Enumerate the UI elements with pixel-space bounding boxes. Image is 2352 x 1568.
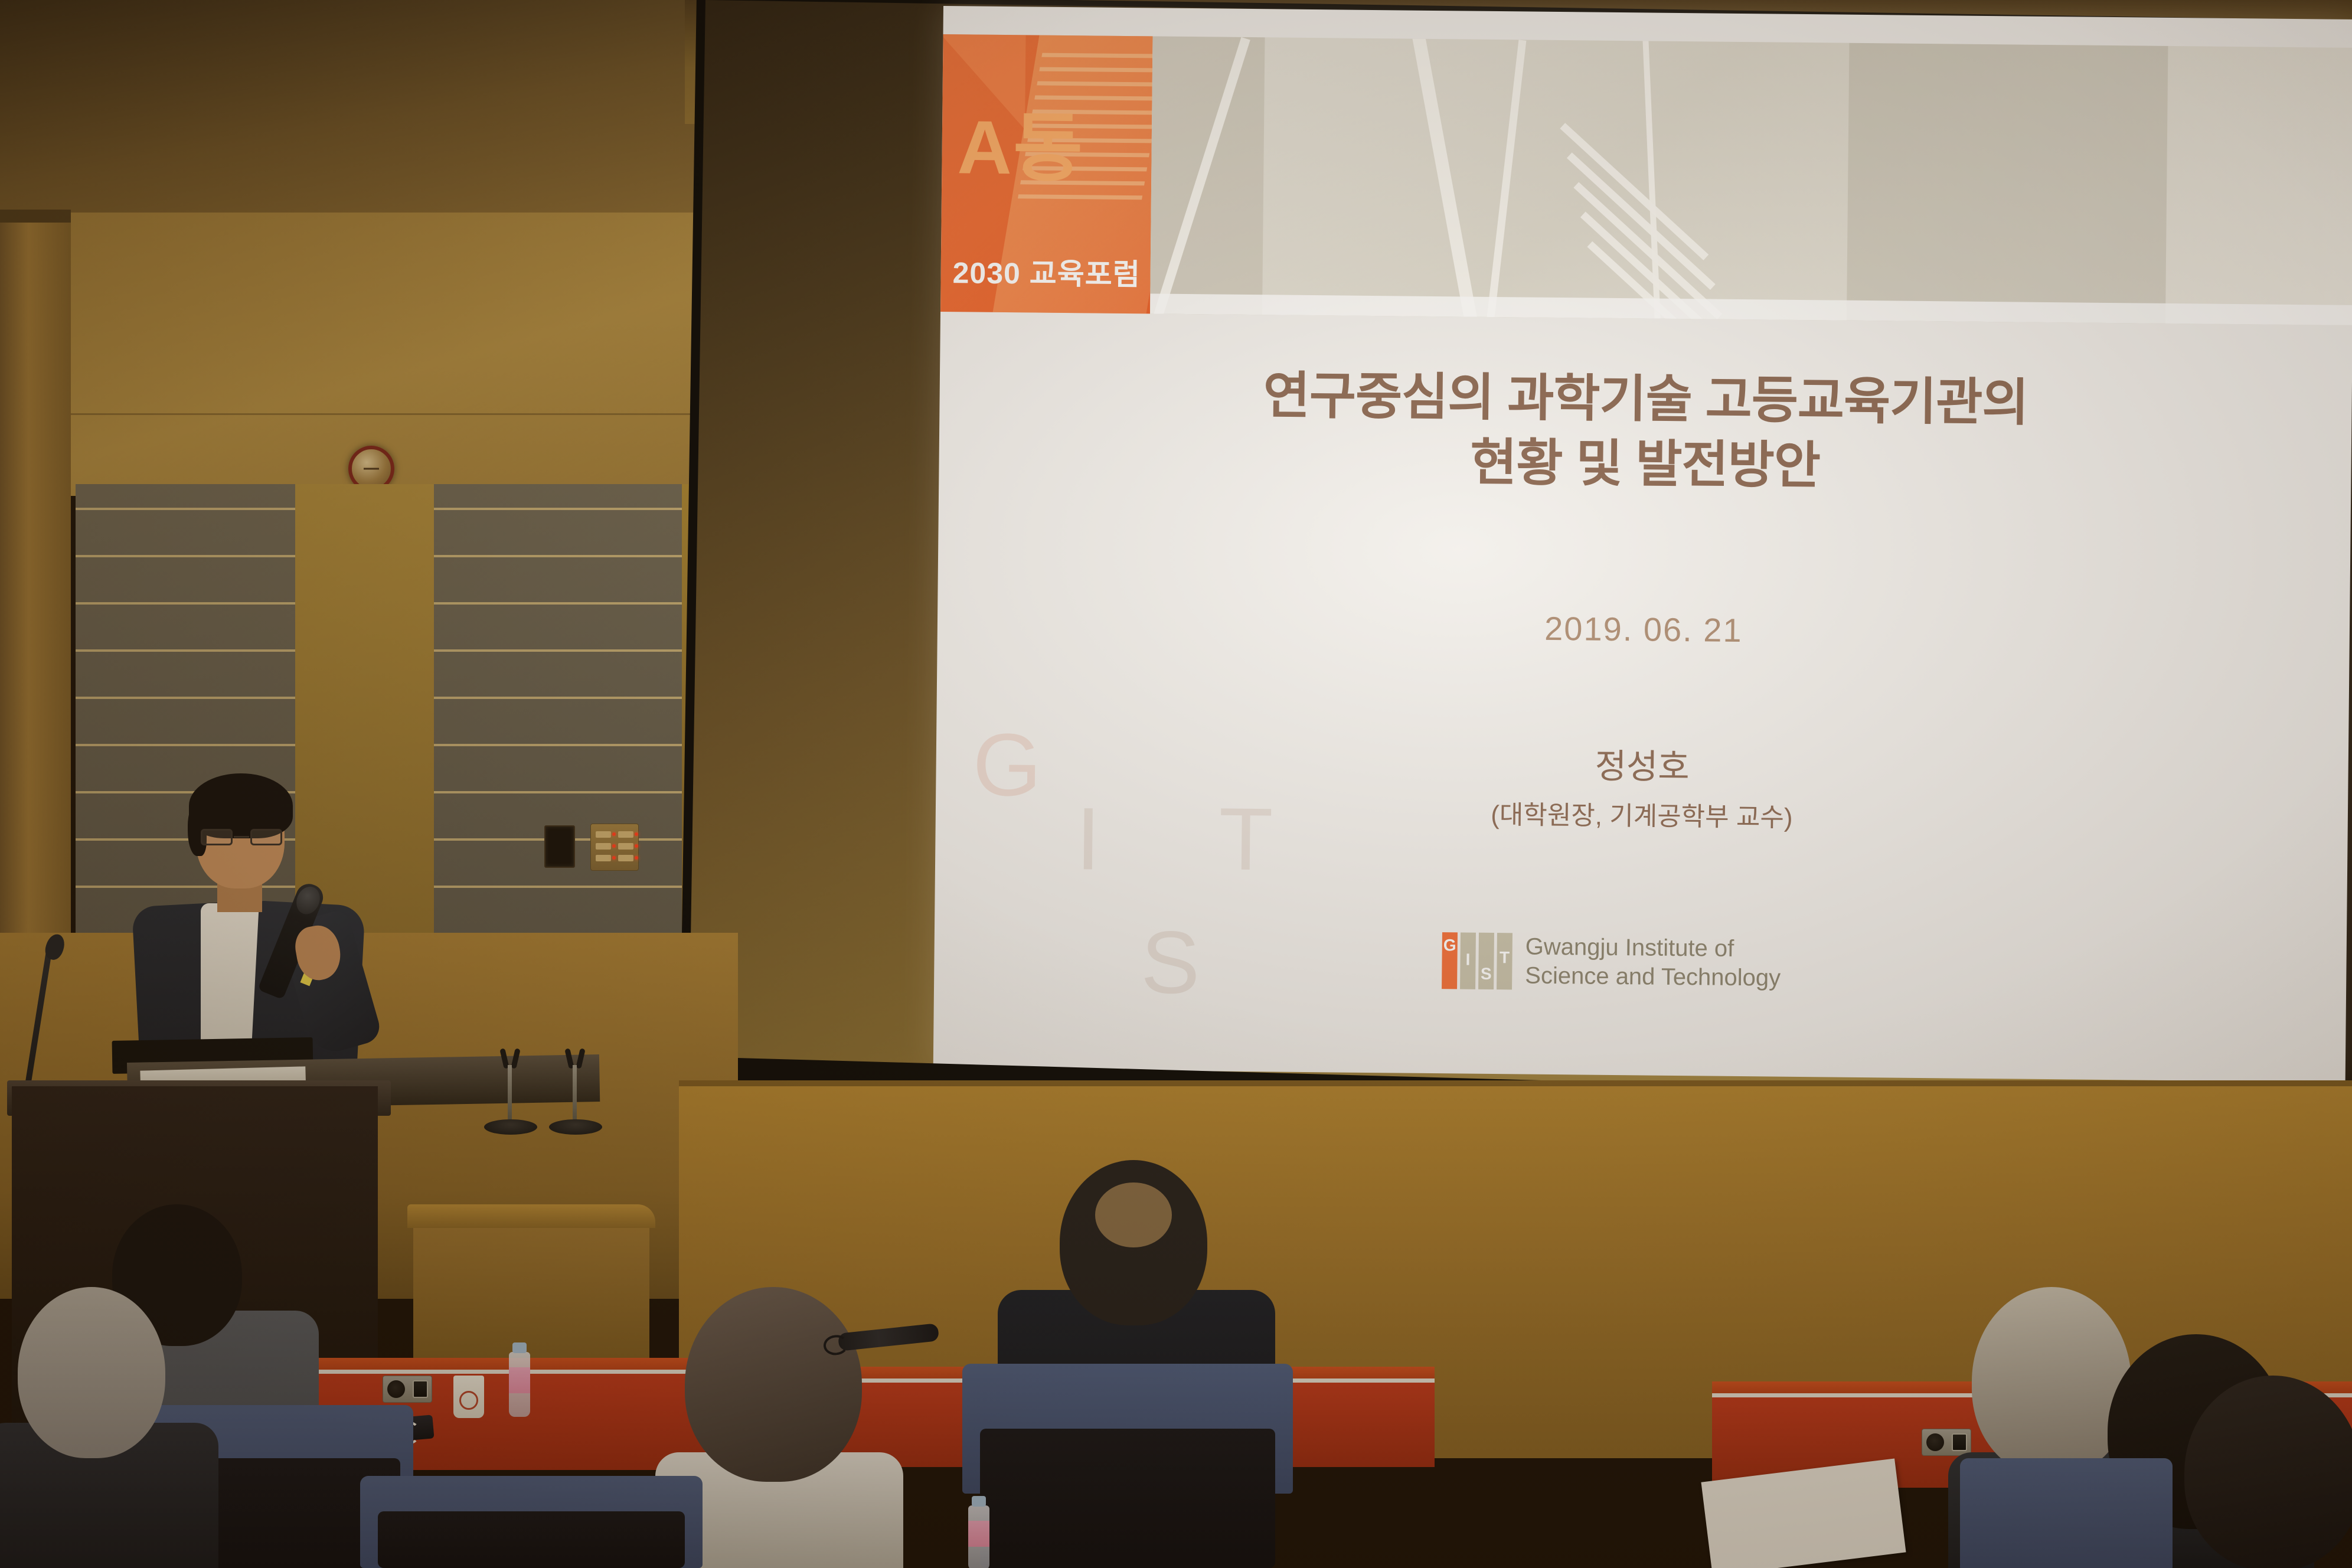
chair-back-front-left	[378, 1511, 685, 1568]
left-pillar-cap	[0, 210, 71, 223]
gist-bar-g: G	[1442, 932, 1458, 989]
microphone-base-2	[549, 1119, 602, 1135]
wall-control-plate[interactable]	[544, 825, 575, 868]
slide-header-band: A동 2030 교육포럼	[940, 34, 2352, 325]
slide-presenter-name: 정성호	[936, 732, 2348, 795]
gist-bar-letter-i: I	[1465, 950, 1470, 969]
slide-title-line-2: 현황 및 발전방안	[939, 425, 2351, 504]
water-bottle-center	[968, 1505, 989, 1568]
gist-bar-letter-g: G	[1443, 936, 1456, 955]
power-outlet-left[interactable]	[383, 1376, 432, 1403]
gist-bar-letter-t: T	[1500, 948, 1510, 967]
chair-right	[1960, 1458, 2173, 1568]
bottle-label-left	[509, 1367, 530, 1393]
gist-bar-i: I	[1460, 932, 1476, 989]
slide-header-orange-block: A동 2030 교육포럼	[940, 34, 1152, 313]
audience-center-scalp	[1095, 1182, 1172, 1247]
watermark-letter-s: S	[1141, 911, 1201, 1014]
lecture-hall-photo: A동 2030 교육포럼 G I T S 연구	[0, 0, 2352, 1568]
audience-member-front-left-gray	[0, 1287, 224, 1568]
microphone-stand-1	[484, 1039, 537, 1135]
left-pillar	[0, 210, 71, 1048]
gist-bar-s: S	[1478, 933, 1494, 989]
coffee-cup	[453, 1376, 484, 1418]
chair-back-center	[980, 1429, 1275, 1568]
mic-side-table	[407, 1204, 655, 1228]
outlet-socket-left	[387, 1380, 405, 1398]
audience-front-center-head	[685, 1287, 862, 1482]
bottle-cap-center	[972, 1496, 986, 1507]
light-switch-panel[interactable]	[590, 824, 639, 871]
glasses-icon	[201, 829, 282, 845]
audience-member-far-right	[2173, 1376, 2352, 1568]
water-bottle-left	[509, 1352, 530, 1417]
slide-presenter-role: (대학원장, 기계공학부 교수)	[936, 788, 2348, 839]
gist-logo: G I S T Gwangju Institute of Science and…	[1442, 932, 1781, 992]
microphone-pole-2	[573, 1065, 577, 1124]
microphone-base-1	[484, 1119, 537, 1135]
microphone-pole-1	[508, 1065, 512, 1124]
projected-slide: A동 2030 교육포럼 G I T S 연구	[933, 6, 2352, 1082]
outlet-usb-left	[413, 1380, 428, 1398]
gist-logo-line-2: Science and Technology	[1525, 961, 1781, 992]
gist-logo-bars: G I S T	[1442, 932, 1513, 989]
building-label: A동	[957, 110, 1084, 187]
wall-seam	[70, 413, 701, 415]
audience-far-right-head	[2184, 1376, 2352, 1568]
gist-logo-line-1: Gwangju Institute of	[1525, 933, 1781, 964]
gist-logo-text: Gwangju Institute of Science and Technol…	[1525, 933, 1781, 993]
bottle-cap-left	[512, 1342, 527, 1353]
slide-date: 2019. 06. 21	[937, 603, 2350, 655]
coffee-cup-logo	[459, 1391, 478, 1410]
wainscot-rail	[679, 1080, 2352, 1086]
microphone-stand-2	[549, 1039, 602, 1135]
bottle-label-center	[968, 1521, 989, 1547]
gist-bar-letter-s: S	[1481, 965, 1492, 984]
gist-bar-t: T	[1497, 933, 1513, 989]
slide-header-architecture-photo	[1150, 36, 2352, 325]
audience-front-left-gray-head	[18, 1287, 165, 1458]
slide-title: 연구중심의 과학기술 고등교육기관의 현황 및 발전방안	[939, 360, 2352, 504]
forum-label: 2030 교육포럼	[952, 249, 1141, 293]
